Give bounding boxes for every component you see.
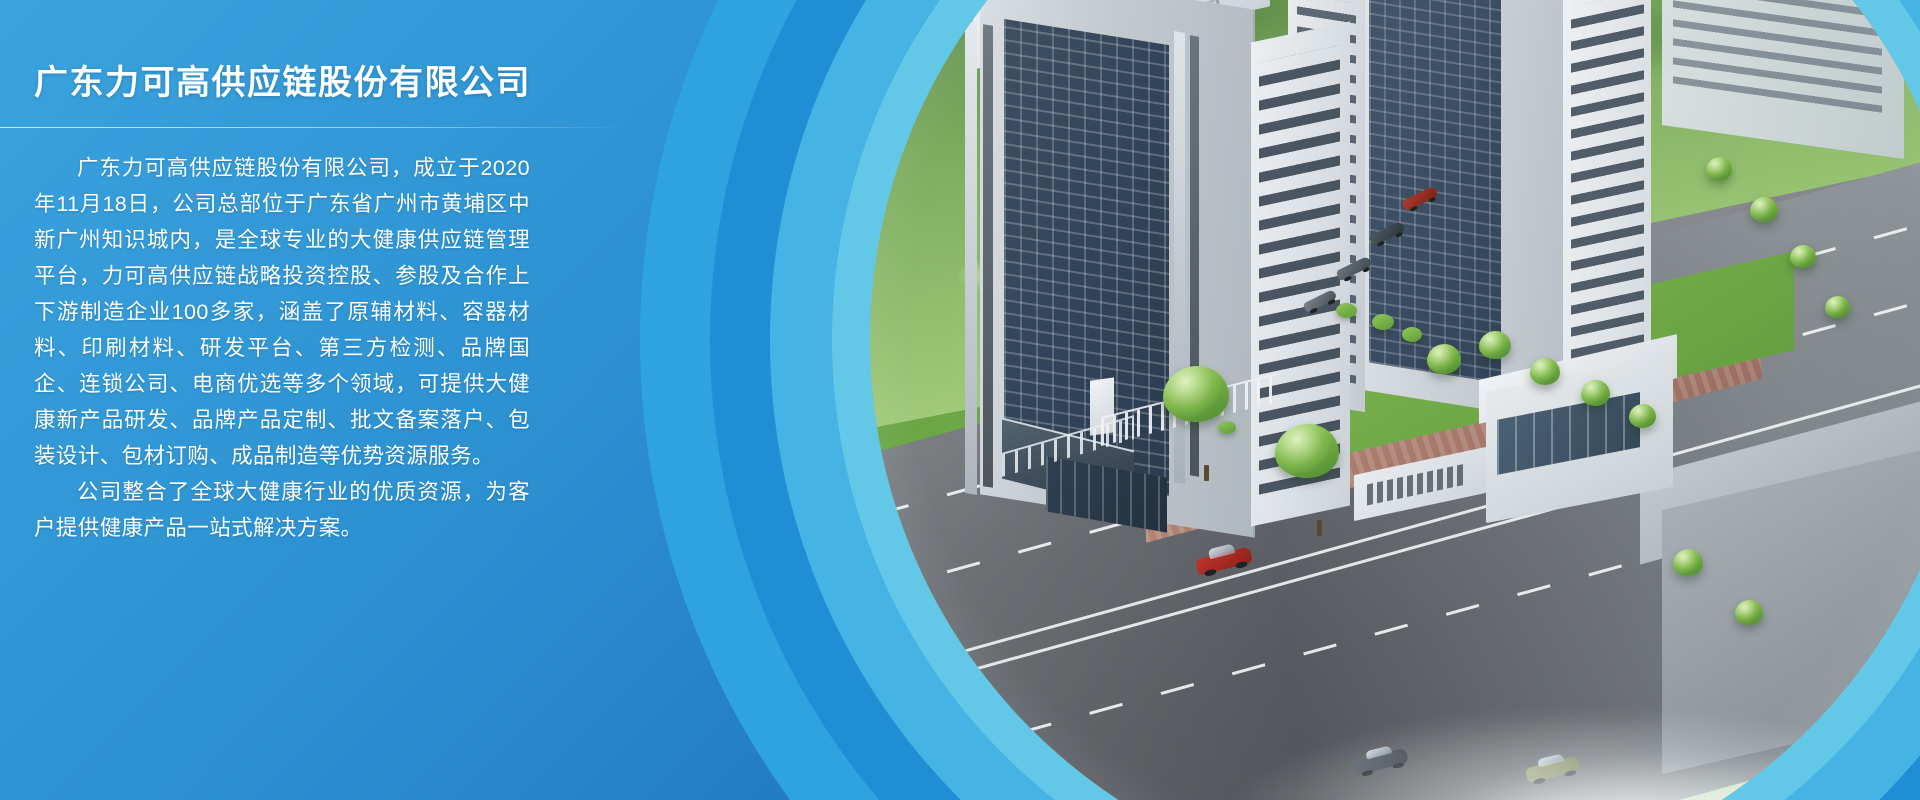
body-copy: 广东力可高供应链股份有限公司，成立于2020年11月18日，公司总部位于广东省广… (34, 150, 530, 546)
campus-rendering-photo (870, 0, 1920, 800)
photo-edge-vignette (870, 0, 1920, 800)
paragraph-1: 广东力可高供应链股份有限公司，成立于2020年11月18日，公司总部位于广东省广… (34, 150, 530, 474)
title-divider (0, 127, 630, 128)
page-title: 广东力可高供应链股份有限公司 (34, 62, 640, 105)
company-profile-banner: 广东力可高供应链股份有限公司 广东力可高供应链股份有限公司，成立于2020年11… (0, 0, 1920, 800)
text-panel: 广东力可高供应链股份有限公司 广东力可高供应链股份有限公司，成立于2020年11… (0, 0, 640, 800)
paragraph-2: 公司整合了全球大健康行业的优质资源，为客户提供健康产品一站式解决方案。 (34, 474, 530, 546)
